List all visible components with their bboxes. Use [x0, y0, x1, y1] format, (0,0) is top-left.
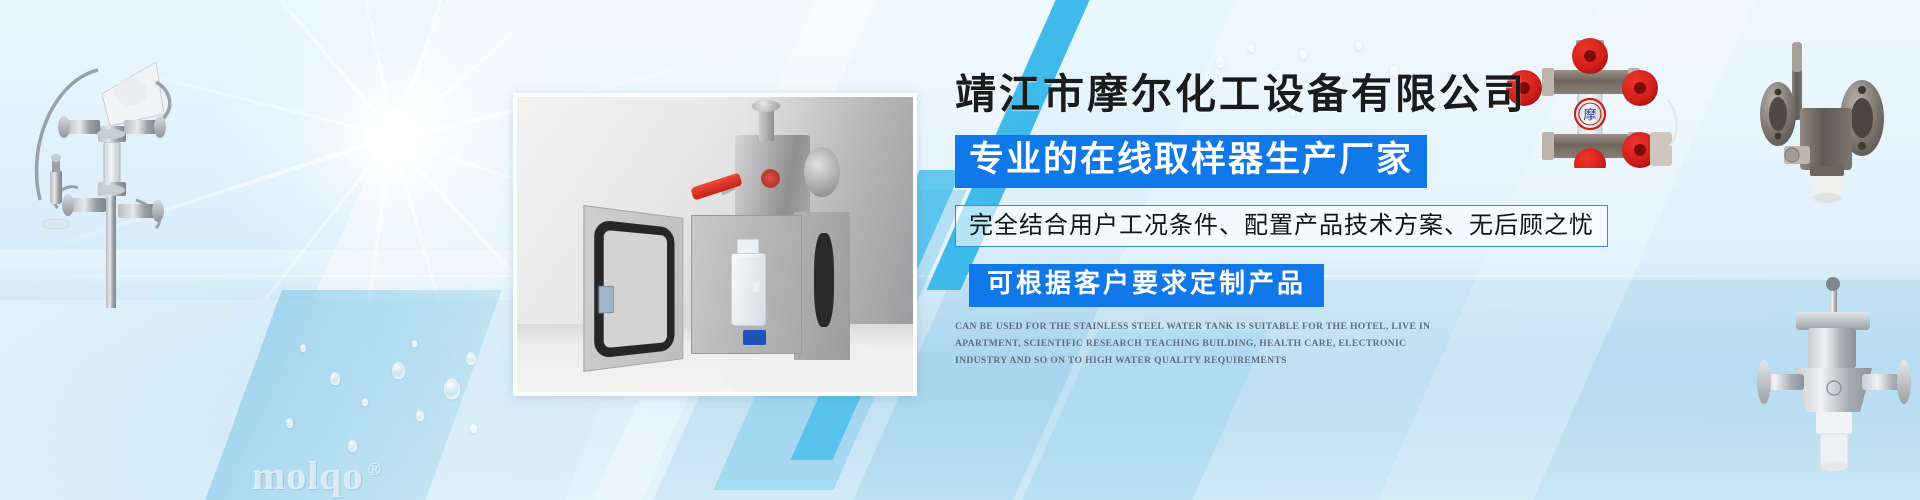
- water-droplet: [300, 344, 306, 352]
- banner-text-block: 靖江市摩尔化工设备有限公司 专业的在线取样器生产厂家 完全结合用户工况条件、配置…: [955, 72, 1675, 369]
- company-title: 靖江市摩尔化工设备有限公司: [955, 72, 1675, 117]
- water-droplet: [444, 378, 460, 399]
- equipment-left-sampler: [6, 22, 196, 312]
- cabinet-handle: [814, 233, 834, 327]
- valve-flange: [804, 147, 840, 197]
- water-droplet: [466, 352, 476, 365]
- subline-text: 完全结合用户工况条件、配置产品技术方案、无后顾之忧: [969, 211, 1594, 239]
- water-droplet: [392, 362, 405, 379]
- custom-product-bar: 可根据客户要求定制产品: [969, 264, 1324, 307]
- water-droplet: [1216, 56, 1225, 68]
- water-droplet: [286, 418, 293, 428]
- watermark-text: molqo: [252, 453, 364, 498]
- door-latch: [598, 286, 614, 314]
- water-droplet: [362, 398, 368, 406]
- water-droplet: [1356, 42, 1362, 50]
- water-droplet: [416, 410, 424, 421]
- water-droplet: [470, 424, 477, 433]
- water-droplet: [348, 440, 357, 452]
- valve-knob: [752, 100, 780, 112]
- english-description: CAN BE USED FOR THE STAINLESS STEEL WATE…: [955, 319, 1455, 369]
- watermark-logo: molqo®: [252, 452, 382, 499]
- water-droplet: [412, 340, 417, 347]
- headline-highlight-bar: 专业的在线取样器生产厂家: [955, 135, 1427, 188]
- equipment-flanged-lever-valve: [1748, 24, 1920, 212]
- water-droplet: [330, 372, 340, 385]
- water-droplet: [1300, 50, 1307, 59]
- water-droplet: [1248, 44, 1254, 52]
- watermark-registered-mark: ®: [368, 459, 382, 479]
- subline-outlined-bar: 完全结合用户工况条件、配置产品技术方案、无后顾之忧: [955, 205, 1608, 247]
- headline-text: 专业的在线取样器生产厂家: [969, 140, 1413, 180]
- blue-cap: [743, 330, 767, 345]
- custom-product-text: 可根据客户要求定制产品: [987, 269, 1306, 299]
- sample-bottle: [731, 253, 767, 326]
- product-photo: [513, 93, 917, 396]
- equipment-sampling-valve: [1752, 272, 1920, 472]
- cabinet-door: [584, 205, 684, 372]
- promo-banner: 摩: [0, 0, 1920, 500]
